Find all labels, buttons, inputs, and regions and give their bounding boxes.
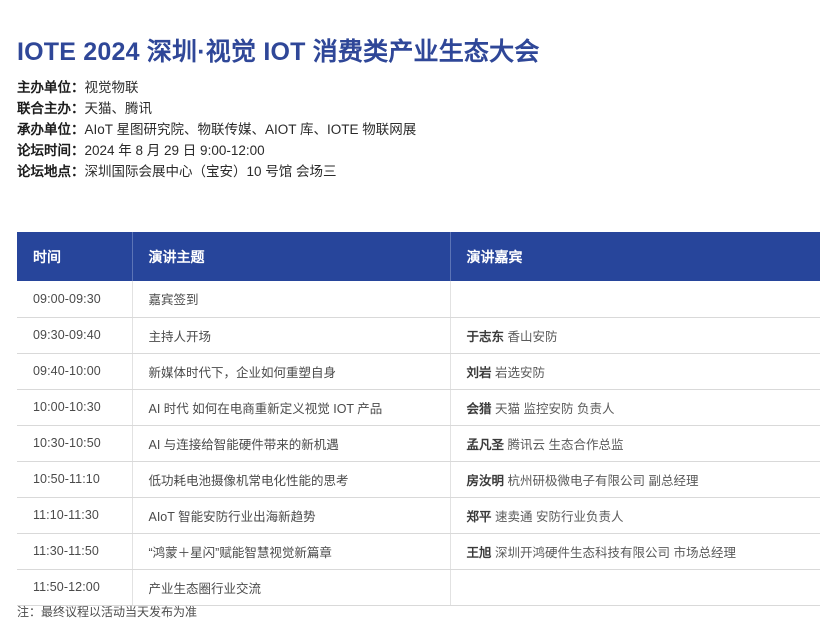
meta-label: 承办单位： — [17, 122, 85, 137]
agenda-page: IOTE 2024 深圳·视觉 IOT 消费类产业生态大会 主办单位：视觉物联 … — [0, 0, 837, 632]
cell-guest: 王旭 深圳开鸿硬件生态科技有限公司 市场总经理 — [450, 533, 820, 569]
table-row: 11:50-12:00 产业生态圈行业交流 — [17, 569, 820, 605]
cell-guest: 孟凡圣 腾讯云 生态合作总监 — [450, 425, 820, 461]
table-row: 10:50-11:10 低功耗电池摄像机常电化性能的思考 房汝明 杭州研极微电子… — [17, 461, 820, 497]
guest-name: 于志东 — [467, 330, 505, 344]
cell-time: 11:30-11:50 — [17, 533, 132, 569]
cell-topic: 嘉宾签到 — [132, 281, 450, 317]
table-row: 11:10-11:30 AIoT 智能安防行业出海新趋势 郑平 速卖通 安防行业… — [17, 497, 820, 533]
guest-org: 岩选安防 — [495, 366, 545, 380]
agenda-table: 时间 演讲主题 演讲嘉宾 09:00-09:30 嘉宾签到 09:30-09:4… — [17, 232, 820, 606]
meta-label: 联合主办： — [17, 101, 85, 116]
guest-org: 深圳开鸿硬件生态科技有限公司 市场总经理 — [495, 546, 736, 560]
guest-name: 郑平 — [467, 510, 492, 524]
agenda-table-body: 09:00-09:30 嘉宾签到 09:30-09:40 主持人开场 于志东 香… — [17, 281, 820, 605]
guest-org: 速卖通 安防行业负责人 — [495, 510, 623, 524]
guest-org: 天猫 监控安防 负责人 — [495, 402, 614, 416]
table-row: 11:30-11:50 “鸿蒙＋星闪”赋能智慧视觉新篇章 王旭 深圳开鸿硬件生态… — [17, 533, 820, 569]
cell-time: 09:40-10:00 — [17, 353, 132, 389]
meta-value: 2024 年 8 月 29 日 9:00-12:00 — [85, 143, 265, 158]
cell-guest — [450, 569, 820, 605]
meta-value: 深圳国际会展中心（宝安）10 号馆 会场三 — [85, 164, 337, 179]
event-meta-block: 主办单位：视觉物联 联合主办：天猫、腾讯 承办单位：AIoT 星图研究院、物联传… — [17, 77, 817, 182]
meta-label: 论坛时间： — [17, 143, 85, 158]
cell-guest: 于志东 香山安防 — [450, 317, 820, 353]
cell-time: 10:00-10:30 — [17, 389, 132, 425]
table-row: 09:00-09:30 嘉宾签到 — [17, 281, 820, 317]
guest-org: 腾讯云 生态合作总监 — [508, 438, 624, 452]
cell-guest: 会猎 天猫 监控安防 负责人 — [450, 389, 820, 425]
guest-org: 杭州研极微电子有限公司 副总经理 — [508, 474, 699, 488]
cell-guest: 房汝明 杭州研极微电子有限公司 副总经理 — [450, 461, 820, 497]
column-header-guest: 演讲嘉宾 — [450, 232, 820, 281]
footnote: 注：最终议程以活动当天发布为准 — [17, 603, 197, 620]
guest-name: 房汝明 — [467, 474, 505, 488]
agenda-table-wrapper: 时间 演讲主题 演讲嘉宾 09:00-09:30 嘉宾签到 09:30-09:4… — [17, 232, 820, 606]
cell-guest: 郑平 速卖通 安防行业负责人 — [450, 497, 820, 533]
cell-topic: AI 时代 如何在电商重新定义视觉 IOT 产品 — [132, 389, 450, 425]
meta-row-host-units: 承办单位：AIoT 星图研究院、物联传媒、AIOT 库、IOTE 物联网展 — [17, 119, 817, 140]
guest-name: 孟凡圣 — [467, 438, 505, 452]
cell-topic: 新媒体时代下，企业如何重塑自身 — [132, 353, 450, 389]
cell-topic: 产业生态圈行业交流 — [132, 569, 450, 605]
cell-time: 09:30-09:40 — [17, 317, 132, 353]
page-title: IOTE 2024 深圳·视觉 IOT 消费类产业生态大会 — [17, 32, 540, 68]
cell-time: 11:50-12:00 — [17, 569, 132, 605]
meta-value: AIoT 星图研究院、物联传媒、AIOT 库、IOTE 物联网展 — [85, 122, 417, 137]
cell-guest: 刘岩 岩选安防 — [450, 353, 820, 389]
cell-topic: AI 与连接给智能硬件带来的新机遇 — [132, 425, 450, 461]
table-row: 10:00-10:30 AI 时代 如何在电商重新定义视觉 IOT 产品 会猎 … — [17, 389, 820, 425]
meta-row-forum-venue: 论坛地点：深圳国际会展中心（宝安）10 号馆 会场三 — [17, 161, 817, 182]
cell-topic: 低功耗电池摄像机常电化性能的思考 — [132, 461, 450, 497]
guest-org: 香山安防 — [508, 330, 558, 344]
meta-value: 天猫、腾讯 — [85, 101, 153, 116]
table-row: 09:30-09:40 主持人开场 于志东 香山安防 — [17, 317, 820, 353]
cell-time: 10:30-10:50 — [17, 425, 132, 461]
meta-row-organizer: 主办单位：视觉物联 — [17, 77, 817, 98]
table-row: 10:30-10:50 AI 与连接给智能硬件带来的新机遇 孟凡圣 腾讯云 生态… — [17, 425, 820, 461]
meta-value: 视觉物联 — [85, 80, 139, 95]
meta-row-co-organizer: 联合主办：天猫、腾讯 — [17, 98, 817, 119]
column-header-topic: 演讲主题 — [132, 232, 450, 281]
column-header-time: 时间 — [17, 232, 132, 281]
guest-name: 刘岩 — [467, 366, 492, 380]
table-header-row: 时间 演讲主题 演讲嘉宾 — [17, 232, 820, 281]
table-row: 09:40-10:00 新媒体时代下，企业如何重塑自身 刘岩 岩选安防 — [17, 353, 820, 389]
cell-guest — [450, 281, 820, 317]
guest-name: 王旭 — [467, 546, 492, 560]
agenda-table-head: 时间 演讲主题 演讲嘉宾 — [17, 232, 820, 281]
meta-row-forum-time: 论坛时间：2024 年 8 月 29 日 9:00-12:00 — [17, 140, 817, 161]
cell-topic: 主持人开场 — [132, 317, 450, 353]
cell-time: 09:00-09:30 — [17, 281, 132, 317]
meta-label: 论坛地点： — [17, 164, 85, 179]
cell-time: 11:10-11:30 — [17, 497, 132, 533]
cell-topic: AIoT 智能安防行业出海新趋势 — [132, 497, 450, 533]
cell-topic: “鸿蒙＋星闪”赋能智慧视觉新篇章 — [132, 533, 450, 569]
meta-label: 主办单位： — [17, 80, 85, 95]
guest-name: 会猎 — [467, 402, 492, 416]
cell-time: 10:50-11:10 — [17, 461, 132, 497]
